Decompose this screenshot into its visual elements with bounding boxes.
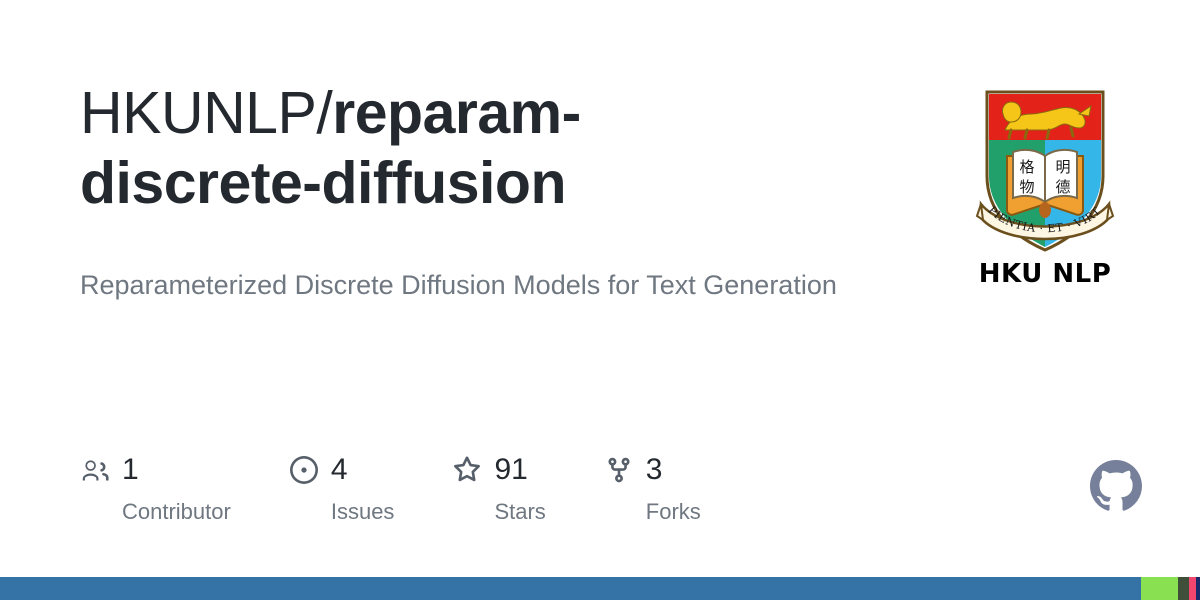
stat-value: 1 bbox=[122, 455, 139, 485]
stat-top: 91 bbox=[452, 450, 545, 490]
stat-value: 3 bbox=[646, 455, 663, 485]
language-bar bbox=[0, 577, 1200, 600]
repo-forked-icon bbox=[604, 455, 634, 485]
repo-stats: 1 Contributor 4 Issues bbox=[80, 450, 759, 523]
crest-char-ge: 格 bbox=[1019, 158, 1034, 176]
repo-separator: / bbox=[316, 80, 332, 146]
github-logo-icon bbox=[1090, 460, 1142, 512]
stat-contributors[interactable]: 1 Contributor bbox=[80, 450, 231, 523]
issue-opened-icon bbox=[289, 455, 319, 485]
title-block: HKUNLP/reparam-discrete-diffusion Repara… bbox=[80, 78, 780, 309]
org-wordmark: HKU NLP bbox=[979, 261, 1112, 287]
stat-label: Contributor bbox=[80, 501, 231, 523]
organization-logo: 格 物 明 德 SAPIENTIA · ET · VIRTUS HKU NLP bbox=[970, 84, 1120, 287]
stat-value: 4 bbox=[331, 455, 348, 485]
star-icon bbox=[452, 455, 482, 485]
stat-label: Issues bbox=[289, 501, 395, 523]
language-segment-2 bbox=[1178, 577, 1188, 600]
language-segment-1 bbox=[1141, 577, 1178, 600]
page-title: HKUNLP/reparam-discrete-diffusion bbox=[80, 78, 780, 218]
stat-forks[interactable]: 3 Forks bbox=[604, 450, 701, 523]
stat-label: Stars bbox=[452, 501, 545, 523]
repo-description: Reparameterized Discrete Diffusion Model… bbox=[80, 261, 870, 309]
language-segment-3 bbox=[1189, 577, 1196, 600]
people-icon bbox=[80, 455, 110, 485]
card-header: HKUNLP/reparam-discrete-diffusion Repara… bbox=[80, 78, 1120, 309]
hku-crest-icon: 格 物 明 德 SAPIENTIA · ET · VIRTUS bbox=[975, 84, 1115, 259]
stat-top: 3 bbox=[604, 450, 701, 490]
stat-top: 1 bbox=[80, 450, 231, 490]
language-segment-0 bbox=[0, 577, 1141, 600]
crest-char-wu: 物 bbox=[1019, 178, 1034, 196]
crest-char-ming: 明 bbox=[1055, 158, 1070, 176]
stat-value: 91 bbox=[494, 455, 527, 485]
stat-label: Forks bbox=[604, 501, 701, 523]
crest-char-de: 德 bbox=[1055, 178, 1070, 196]
language-segment-4 bbox=[1196, 577, 1200, 600]
repo-social-card: HKUNLP/reparam-discrete-diffusion Repara… bbox=[0, 0, 1200, 600]
stat-stars[interactable]: 91 Stars bbox=[452, 450, 545, 523]
stat-issues[interactable]: 4 Issues bbox=[289, 450, 395, 523]
stat-top: 4 bbox=[289, 450, 395, 490]
repo-owner[interactable]: HKUNLP bbox=[80, 80, 316, 146]
